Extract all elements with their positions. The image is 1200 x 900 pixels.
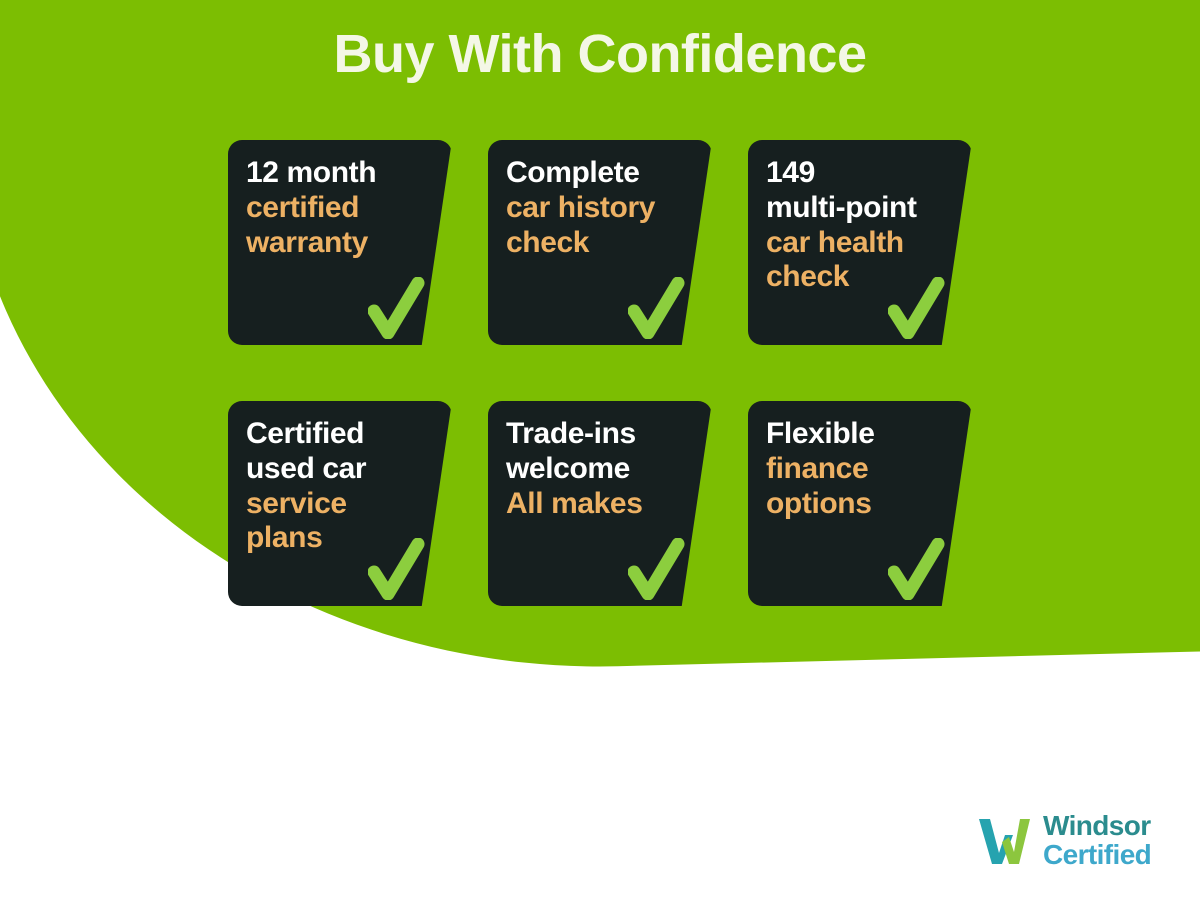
feature-row-2: Certifiedused carserviceplansTrade-inswe… [228, 401, 972, 606]
check-icon [888, 277, 946, 339]
feature-card-line: Certified [246, 417, 422, 452]
check-icon [628, 277, 686, 339]
feature-card-text: Flexiblefinanceoptions [766, 417, 942, 521]
check-icon [888, 538, 946, 600]
feature-card-text: 12 monthcertifiedwarranty [246, 156, 422, 260]
feature-card-line: All makes [506, 487, 682, 522]
feature-card-line: welcome [506, 452, 682, 487]
feature-card-line: car health [766, 226, 942, 261]
feature-card-trade-ins: Trade-inswelcomeAll makes [488, 401, 712, 606]
brand-word-certified: Certified [1043, 841, 1151, 870]
feature-card-car-history-check: Completecar historycheck [488, 140, 712, 345]
feature-card-line: 149 [766, 156, 942, 191]
feature-card-text: Certifiedused carserviceplans [246, 417, 422, 556]
feature-card-line: service [246, 487, 422, 522]
promo-banner: Buy With Confidence 12 monthcertifiedwar… [0, 0, 1200, 900]
feature-card-certified-warranty: 12 monthcertifiedwarranty [228, 140, 452, 345]
page-title: Buy With Confidence [0, 26, 1200, 83]
feature-card-car-health-check: 149multi-pointcar healthcheck [748, 140, 972, 345]
feature-row-1: 12 monthcertifiedwarrantyCompletecar his… [228, 140, 972, 345]
feature-card-line: certified [246, 191, 422, 226]
feature-card-service-plans: Certifiedused carserviceplans [228, 401, 452, 606]
windsor-w-icon [975, 815, 1033, 867]
feature-card-line: warranty [246, 226, 422, 261]
feature-card-finance-options: Flexiblefinanceoptions [748, 401, 972, 606]
feature-card-line: options [766, 487, 942, 522]
feature-card-line: Flexible [766, 417, 942, 452]
feature-card-line: finance [766, 452, 942, 487]
feature-card-line: Trade-ins [506, 417, 682, 452]
check-icon [628, 538, 686, 600]
feature-card-line: Complete [506, 156, 682, 191]
feature-card-text: Trade-inswelcomeAll makes [506, 417, 682, 521]
check-icon [368, 538, 426, 600]
brand-word-windsor: Windsor [1043, 812, 1151, 841]
feature-card-line: 12 month [246, 156, 422, 191]
feature-card-line: check [506, 226, 682, 261]
brand-logo: Windsor Certified [975, 812, 1151, 869]
feature-card-line: multi-point [766, 191, 942, 226]
check-icon [368, 277, 426, 339]
feature-card-text: 149multi-pointcar healthcheck [766, 156, 942, 295]
feature-card-text: Completecar historycheck [506, 156, 682, 260]
brand-logo-wordmark: Windsor Certified [1043, 812, 1151, 869]
feature-card-line: used car [246, 452, 422, 487]
feature-card-grid: 12 monthcertifiedwarrantyCompletecar his… [228, 140, 972, 662]
feature-card-line: car history [506, 191, 682, 226]
